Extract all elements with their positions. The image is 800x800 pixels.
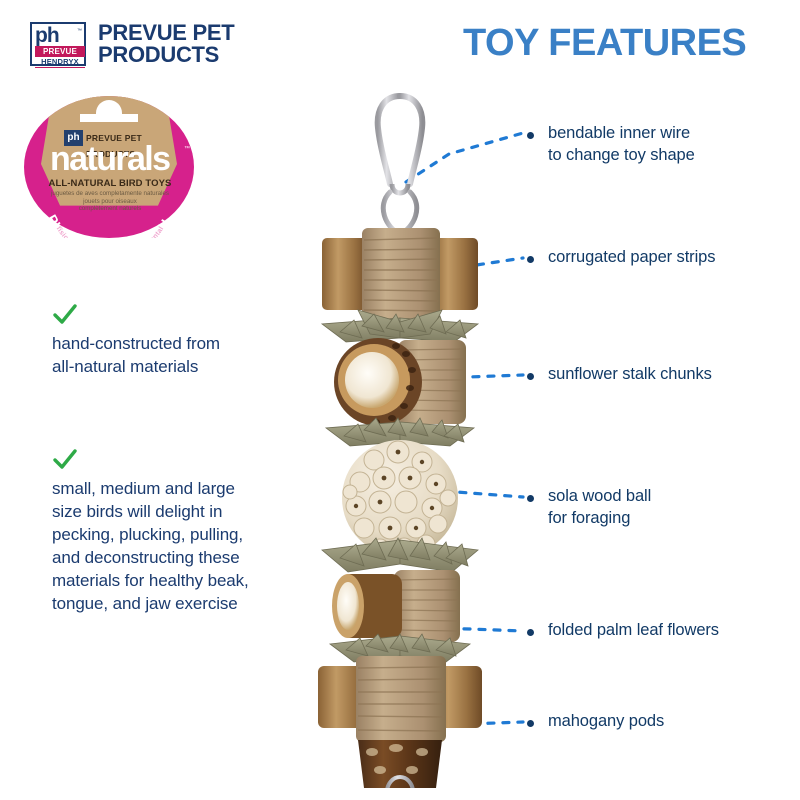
callout-dot-icon bbox=[527, 720, 534, 727]
feature-text-3: sola wood ball for foraging bbox=[548, 485, 798, 529]
benefit-line: small, medium and large bbox=[52, 477, 302, 500]
benefit-item-1: small, medium and large size birds will … bbox=[52, 447, 302, 615]
logo-hendryx-text: HENDRYX bbox=[35, 57, 85, 68]
feature-line: sola wood ball bbox=[548, 485, 798, 507]
feature-line: to change toy shape bbox=[548, 144, 798, 166]
corrugated-paper-section-bottom bbox=[318, 656, 482, 742]
feature-line: folded palm leaf flowers bbox=[548, 619, 798, 641]
feature-text-4: folded palm leaf flowers bbox=[548, 619, 798, 641]
benefit-line: and deconstructing these bbox=[52, 546, 302, 569]
naturals-product-label: ph PREVUE PET PRODUCTS naturals ™ ALL-NA… bbox=[24, 88, 194, 238]
feature-line: bendable inner wire bbox=[548, 122, 798, 144]
palm-leaf-flower-3 bbox=[322, 538, 478, 572]
feature-line: for foraging bbox=[548, 507, 798, 529]
callout-dot-icon bbox=[527, 373, 534, 380]
benefit-line: pecking, plucking, pulling, bbox=[52, 523, 302, 546]
callout-dot-icon bbox=[527, 495, 534, 502]
brand-logo: ph ™ PREVUE HENDRYX bbox=[30, 22, 92, 68]
benefit-line: size birds will delight in bbox=[52, 500, 302, 523]
page-title: TOY FEATURES bbox=[463, 22, 746, 64]
sunflower-stalk-section-lower bbox=[332, 570, 460, 642]
sunflower-stalk-section bbox=[334, 338, 466, 426]
benefit-line: hand-constructed from bbox=[52, 332, 302, 355]
logo-prevue-band: PREVUE bbox=[35, 46, 85, 57]
feature-line: corrugated paper strips bbox=[548, 246, 798, 268]
benefit-line: materials for healthy beak, bbox=[52, 569, 302, 592]
feature-text-0: bendable inner wire to change toy shape bbox=[548, 122, 798, 166]
feature-text-2: sunflower stalk chunks bbox=[548, 363, 798, 385]
product-illustration bbox=[300, 88, 500, 788]
check-icon bbox=[52, 447, 78, 473]
mahogany-pod-bottom bbox=[358, 740, 442, 788]
feature-text-5: mahogany pods bbox=[548, 710, 798, 732]
callout-dot-icon bbox=[527, 256, 534, 263]
logo-trademark-icon: ™ bbox=[77, 28, 82, 34]
benefit-item-0: hand-constructed from all-natural materi… bbox=[52, 302, 302, 378]
callout-dot-icon bbox=[527, 132, 534, 139]
benefit-text-1: small, medium and large size birds will … bbox=[52, 477, 302, 615]
benefit-line: tongue, and jaw exercise bbox=[52, 592, 302, 615]
logo-box: ph ™ PREVUE HENDRYX bbox=[30, 22, 86, 66]
feature-line: mahogany pods bbox=[548, 710, 798, 732]
metal-clip-icon bbox=[378, 96, 423, 234]
feature-text-1: corrugated paper strips bbox=[548, 246, 798, 268]
corrugated-paper-section-top bbox=[322, 228, 478, 320]
benefit-text-0: hand-constructed from all-natural materi… bbox=[52, 332, 302, 378]
benefit-line: all-natural materials bbox=[52, 355, 302, 378]
feature-line: sunflower stalk chunks bbox=[548, 363, 798, 385]
product-photo bbox=[300, 88, 500, 788]
brand-name: PREVUE PET PRODUCTS bbox=[98, 22, 298, 66]
callout-dot-icon bbox=[527, 629, 534, 636]
check-icon bbox=[52, 302, 78, 328]
label-arc-text: PHYSICAL & MENTAL físico y mental · phys… bbox=[24, 96, 194, 238]
